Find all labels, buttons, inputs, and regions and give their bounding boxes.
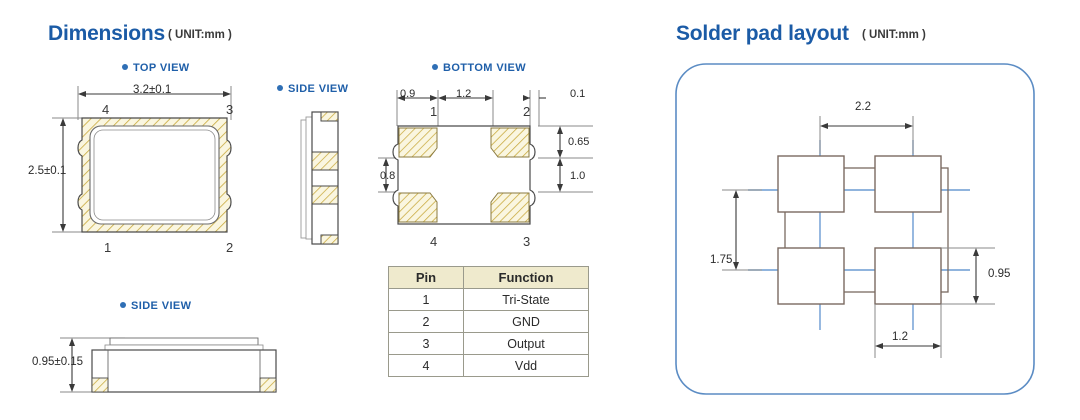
- side-view-bottom-label-text: SIDE VIEW: [131, 300, 191, 312]
- table-header-row: Pin Function: [389, 267, 589, 289]
- bottom-view-pin-4: 4: [430, 234, 437, 249]
- dimensions-unit-note: ( UNIT:mm ): [168, 29, 232, 41]
- datasheet-canvas: Dimensions ( UNIT:mm ) TOP VIEW: [0, 0, 1080, 420]
- dimensions-title: Dimensions: [48, 22, 165, 46]
- side-view-right-label-text: SIDE VIEW: [288, 83, 348, 95]
- side-view-bottom-height-dim: 0.95±0.15: [32, 356, 83, 368]
- bottom-view-pin-1: 1: [430, 104, 437, 119]
- table-row: 3 Output: [389, 333, 589, 355]
- solder-dim-horizontal-span: 2.2: [855, 101, 871, 113]
- top-view-pin-4: 4: [102, 102, 109, 117]
- cell-function: Tri-State: [464, 289, 589, 311]
- table-row: 2 GND: [389, 311, 589, 333]
- cell-function: Output: [464, 333, 589, 355]
- top-view-pin-3: 3: [226, 102, 233, 117]
- cell-pin: 2: [389, 311, 464, 333]
- bullet-icon: [277, 85, 283, 91]
- cell-pin: 4: [389, 355, 464, 377]
- top-view-label-text: TOP VIEW: [133, 62, 190, 74]
- solder-title: Solder pad layout: [676, 22, 849, 46]
- table-row: 4 Vdd: [389, 355, 589, 377]
- bottom-view-dim-pitch: 1.0: [570, 170, 585, 182]
- bottom-view-drawing: [378, 80, 598, 260]
- bullet-icon: [122, 64, 128, 70]
- bottom-view-label-text: BOTTOM VIEW: [443, 62, 526, 74]
- table-header-function: Function: [464, 267, 589, 289]
- table-header-pin: Pin: [389, 267, 464, 289]
- bottom-view-dim-pad-width: 0.9: [400, 88, 415, 100]
- solder-dim-vertical-span: 1.75: [710, 254, 732, 266]
- cell-function: Vdd: [464, 355, 589, 377]
- bottom-view-dim-gap: 1.2: [456, 88, 471, 100]
- top-view-pin-1: 1: [104, 240, 111, 255]
- bottom-view-pin-3: 3: [523, 234, 530, 249]
- cell-function: GND: [464, 311, 589, 333]
- table-row: 1 Tri-State: [389, 289, 589, 311]
- side-view-right-drawing: [295, 110, 355, 250]
- side-view-right-label: SIDE VIEW: [277, 83, 348, 95]
- side-view-bottom-label: SIDE VIEW: [120, 300, 191, 312]
- top-view-label: TOP VIEW: [122, 62, 190, 74]
- top-view-height-dim: 2.5±0.1: [28, 165, 66, 177]
- bottom-view-dim-edge: 0.1: [570, 88, 585, 100]
- solder-dim-pad-width: 1.2: [892, 331, 908, 343]
- solder-dim-pad-height: 0.95: [988, 268, 1010, 280]
- top-view-width-dim: 3.2±0.1: [133, 84, 171, 96]
- bullet-icon: [432, 64, 438, 70]
- cell-pin: 1: [389, 289, 464, 311]
- top-view-pin-2: 2: [226, 240, 233, 255]
- bottom-view-label: BOTTOM VIEW: [432, 62, 526, 74]
- solder-unit-note: ( UNIT:mm ): [862, 29, 926, 41]
- pin-function-table: Pin Function 1 Tri-State 2 GND 3 Output: [388, 266, 589, 377]
- bottom-view-dim-inner-gap: 0.8: [380, 170, 395, 182]
- top-view-drawing: [30, 80, 280, 260]
- bullet-icon: [120, 302, 126, 308]
- bottom-view-dim-pad-height: 0.65: [568, 136, 589, 148]
- cell-pin: 3: [389, 333, 464, 355]
- bottom-view-pin-2: 2: [523, 104, 530, 119]
